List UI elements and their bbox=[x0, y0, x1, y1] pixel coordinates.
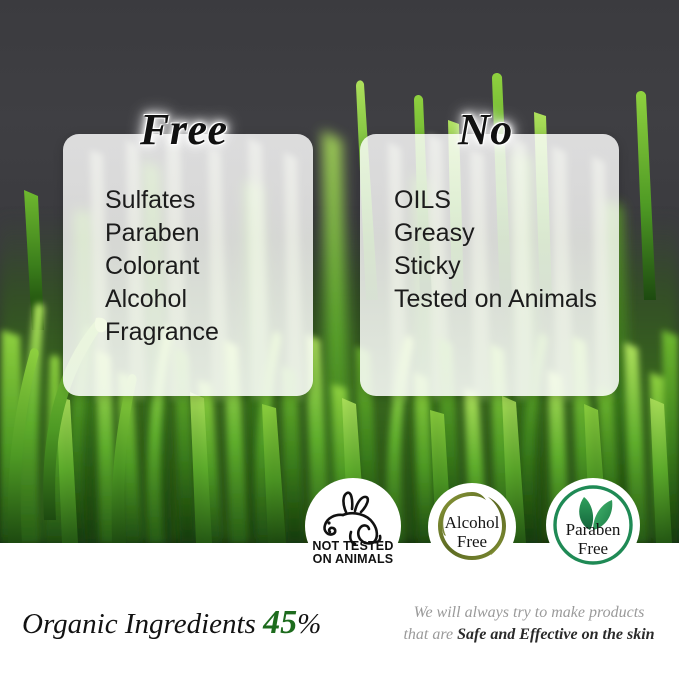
list-item: Fragrance bbox=[105, 316, 219, 349]
badge-paraben-free: Paraben Free bbox=[546, 478, 640, 572]
badge-label-line1: Paraben bbox=[566, 520, 621, 539]
brand-tagline: We will always try to make products that… bbox=[384, 602, 674, 646]
organic-value: 45 bbox=[263, 604, 297, 641]
organic-ingredients-statement: Organic Ingredients 45% bbox=[22, 604, 321, 642]
badge-alcohol-label: Alcohol Free bbox=[428, 513, 516, 551]
tagline-line2: that are Safe and Effective on the skin bbox=[384, 624, 674, 646]
card-title-no: No bbox=[458, 104, 513, 155]
list-item: Colorant bbox=[105, 250, 219, 283]
card-title-free: Free bbox=[140, 104, 228, 155]
list-item: Tested on Animals bbox=[394, 283, 597, 316]
badge-paraben-label: Paraben Free bbox=[546, 520, 640, 558]
organic-unit: % bbox=[297, 608, 321, 640]
badge-caption-line2: ON ANIMALS bbox=[305, 553, 401, 566]
badge-label-line2: Free bbox=[428, 532, 516, 551]
badge-alcohol-free: Alcohol Free bbox=[428, 483, 516, 571]
badge-label-line2: Free bbox=[546, 539, 640, 558]
list-item: Greasy bbox=[394, 217, 597, 250]
tagline-prefix: that are bbox=[403, 626, 457, 643]
product-claims-poster: Free Sulfates Paraben Colorant Alcohol F… bbox=[0, 0, 679, 679]
list-item: Paraben bbox=[105, 217, 219, 250]
list-item: Alcohol bbox=[105, 283, 219, 316]
organic-label: Organic Ingredients bbox=[22, 608, 256, 640]
badge-cruelty-caption: NOT TESTED ON ANIMALS bbox=[305, 540, 401, 566]
tagline-strong: Safe and Effective on the skin bbox=[457, 626, 654, 643]
list-item: OILS bbox=[394, 184, 597, 217]
badge-cruelty-free: NOT TESTED ON ANIMALS bbox=[305, 478, 401, 574]
list-item: Sticky bbox=[394, 250, 597, 283]
badge-label-line1: Alcohol bbox=[445, 513, 500, 532]
claims-list-free: Sulfates Paraben Colorant Alcohol Fragra… bbox=[105, 184, 219, 349]
tagline-line1: We will always try to make products bbox=[384, 602, 674, 624]
claims-list-no: OILS Greasy Sticky Tested on Animals bbox=[394, 184, 597, 316]
list-item: Sulfates bbox=[105, 184, 219, 217]
